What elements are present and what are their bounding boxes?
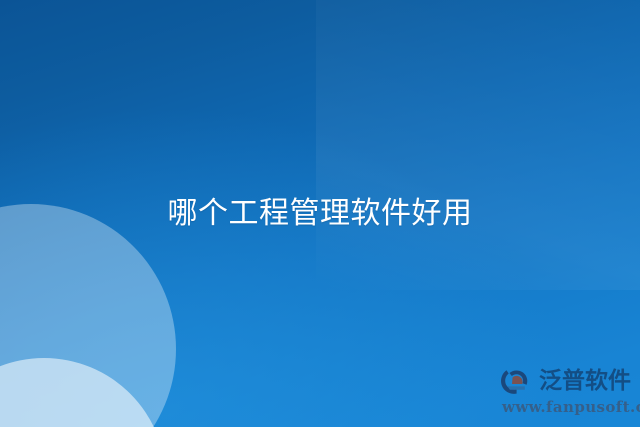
watermark-brand-row: 泛普软件 bbox=[500, 367, 631, 396]
fanpu-logo-icon bbox=[500, 367, 536, 396]
slide-canvas: 哪个工程管理软件好用 泛普软件 www.fanpusoft.com bbox=[0, 0, 640, 427]
watermark-url-text: www.fanpusoft.com bbox=[502, 398, 640, 416]
watermark-logo: 泛普软件 www.fanpusoft.com bbox=[500, 365, 634, 423]
watermark-brand-text: 泛普软件 bbox=[539, 370, 631, 393]
headline-container: 哪个工程管理软件好用 bbox=[0, 0, 640, 427]
page-title: 哪个工程管理软件好用 bbox=[168, 197, 473, 230]
